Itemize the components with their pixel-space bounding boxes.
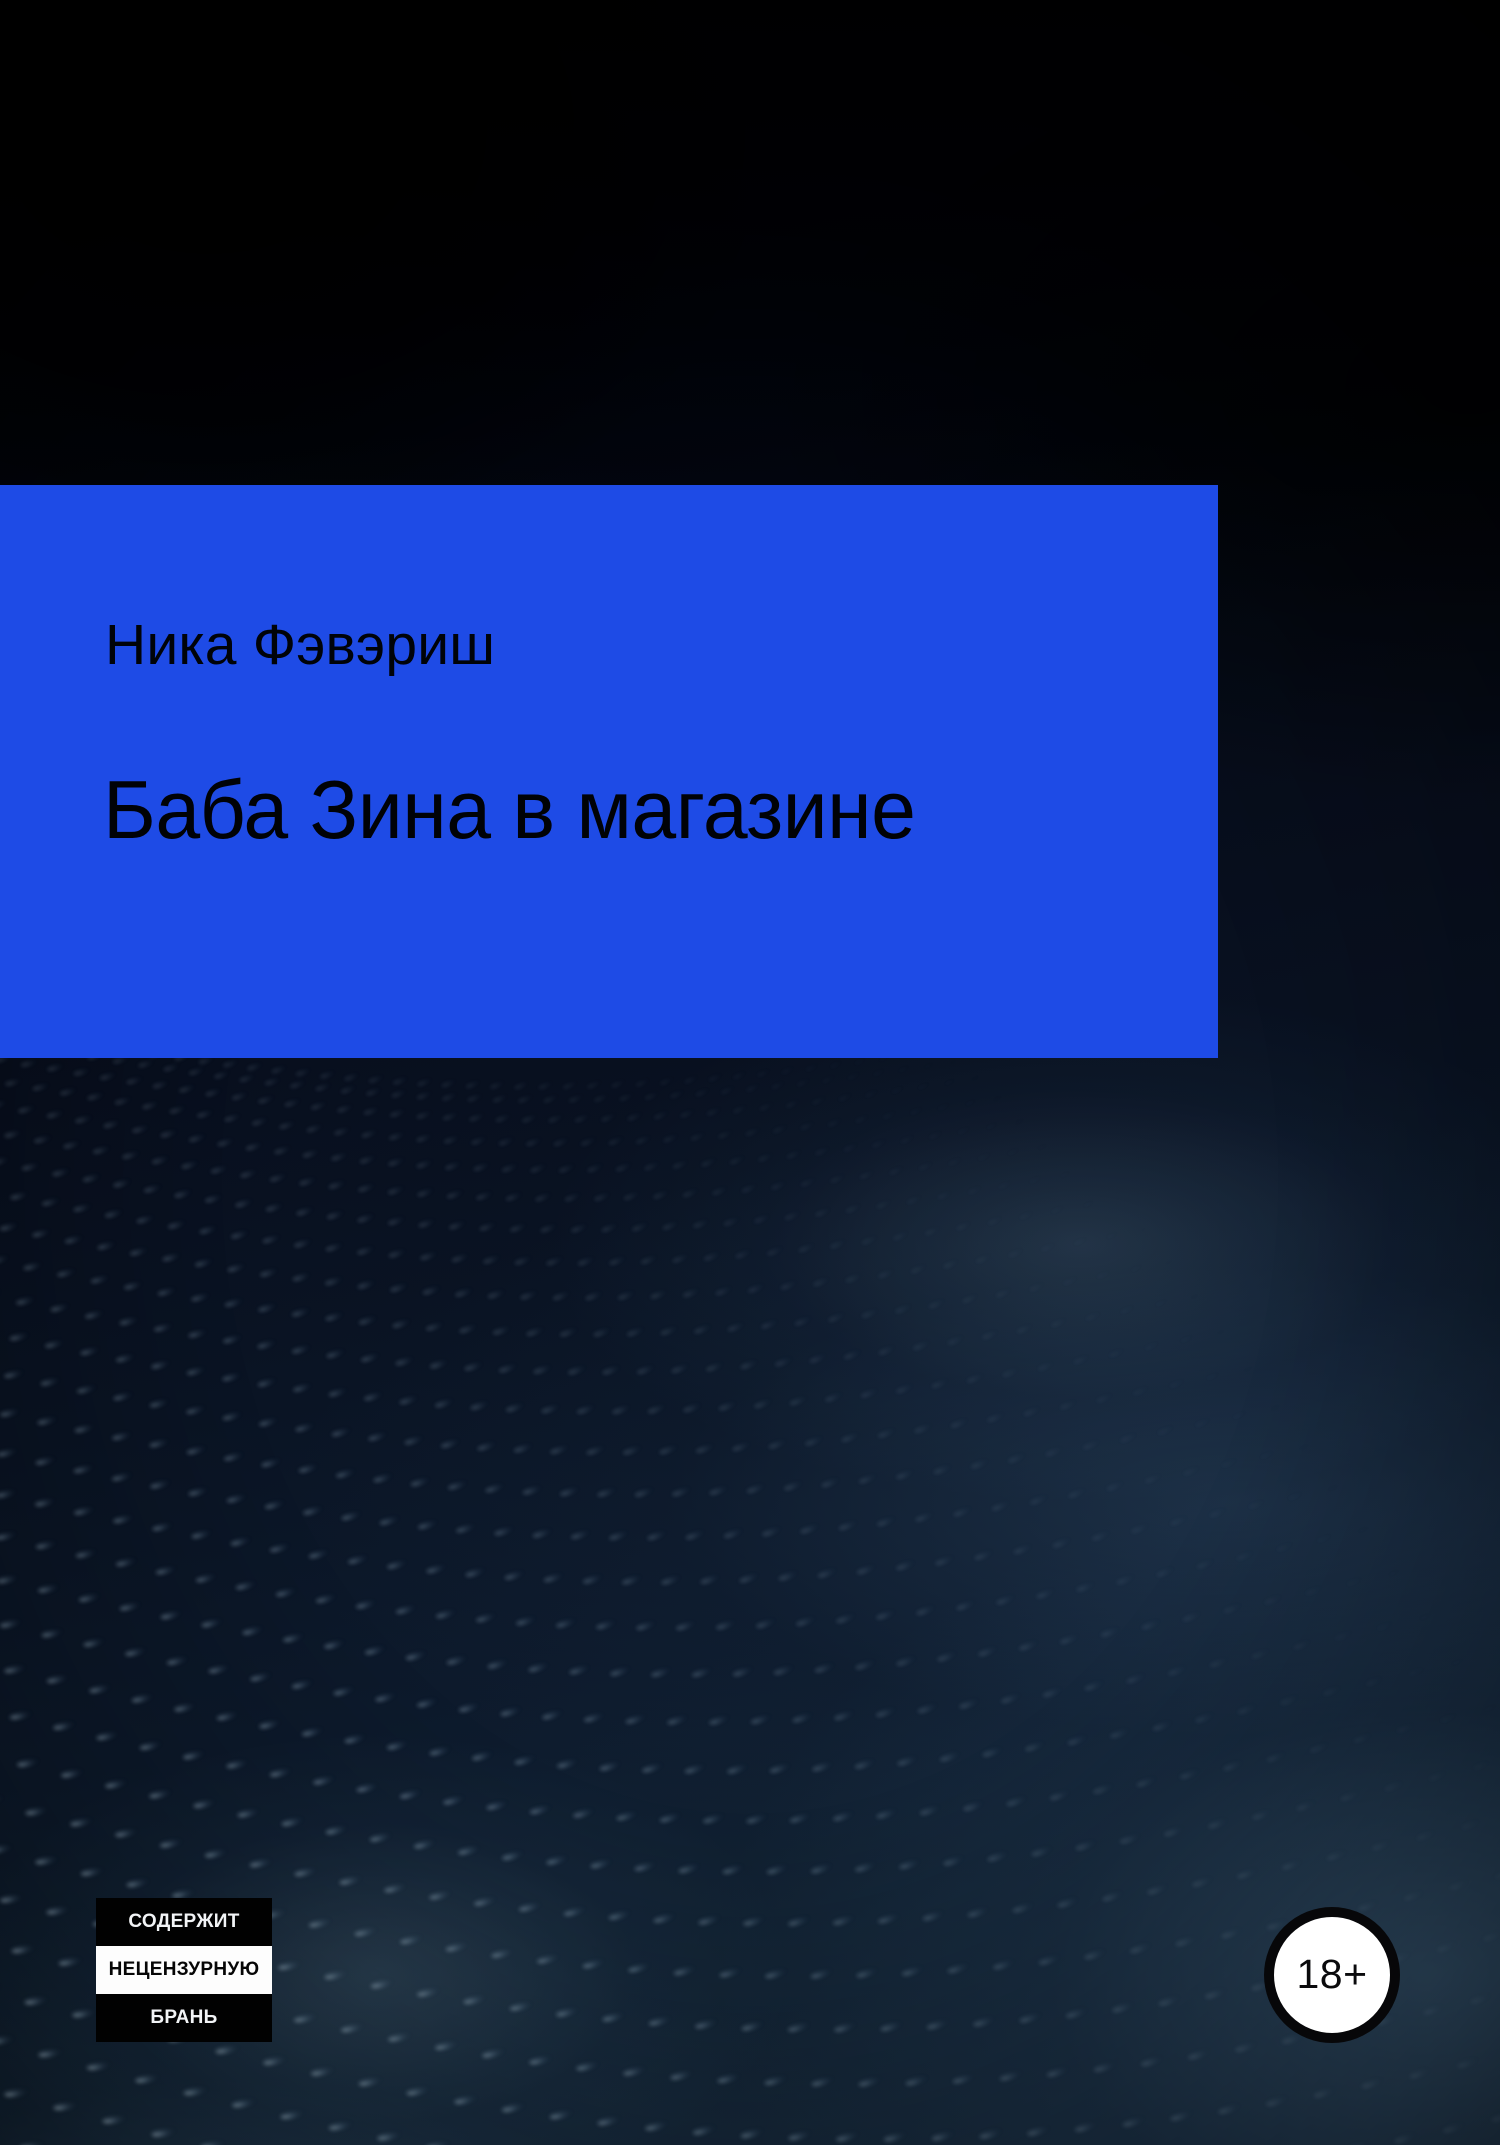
age-rating-label: 18+: [1296, 1954, 1367, 1995]
book-title: Баба Зина в магазине: [103, 766, 915, 853]
author-name: Ника Фэвэриш: [105, 616, 495, 676]
content-warning-line-1: СОДЕРЖИТ: [96, 1898, 272, 1946]
content-warning-badge: СОДЕРЖИТ НЕЦЕНЗУРНУЮ БРАНЬ: [96, 1898, 272, 2042]
age-rating-badge: 18+: [1264, 1907, 1400, 2043]
book-cover: Ника Фэвэриш Баба Зина в магазине СОДЕРЖ…: [0, 0, 1500, 2145]
content-warning-line-3: БРАНЬ: [96, 1994, 272, 2042]
content-warning-line-2: НЕЦЕНЗУРНУЮ: [96, 1946, 272, 1994]
